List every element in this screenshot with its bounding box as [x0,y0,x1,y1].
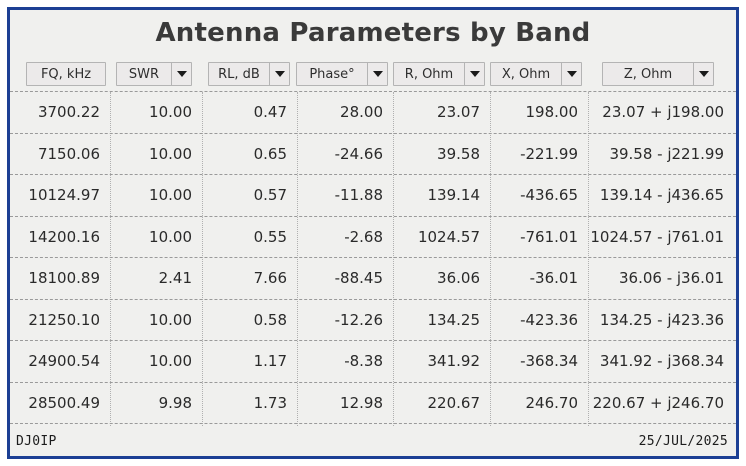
cell-x: 198.00 [490,92,588,133]
cell-r: 1024.57 [393,217,490,258]
column-header-x[interactable]: X, Ohm [490,62,582,86]
column-header-r[interactable]: R, Ohm [393,62,485,86]
chevron-down-glyph [177,71,187,77]
cell-rl: 0.55 [202,217,297,258]
chevron-down-glyph [470,71,480,77]
cell-z: 39.58 - j221.99 [588,134,736,175]
cell-swr: 10.00 [110,92,202,133]
table-row[interactable]: 14200.1610.000.55-2.681024.57-761.011024… [10,217,736,259]
table-header-row: FQ, kHzSWRRL, dBPhase°R, OhmX, OhmZ, Ohm [10,56,736,92]
cell-swr: 2.41 [110,258,202,299]
cell-phase: -12.26 [297,300,393,341]
cell-phase: 12.98 [297,383,393,424]
column-header-label: FQ, kHz [27,63,105,85]
cell-phase: -2.68 [297,217,393,258]
column-header-label: X, Ohm [491,63,561,85]
cell-rl: 0.47 [202,92,297,133]
cell-x: -436.65 [490,175,588,216]
footer-date: 25/JUL/2025 [639,434,728,449]
cell-r: 139.14 [393,175,490,216]
page-title: Antenna Parameters by Band [155,18,590,48]
cell-r: 39.58 [393,134,490,175]
cell-phase: -88.45 [297,258,393,299]
cell-x: -761.01 [490,217,588,258]
cell-z: 36.06 - j36.01 [588,258,736,299]
cell-x: -221.99 [490,134,588,175]
footer-bar: DJ0IP 25/JUL/2025 [10,426,736,456]
column-header-label: R, Ohm [394,63,464,85]
chevron-down-icon[interactable] [367,63,387,85]
cell-x: -36.01 [490,258,588,299]
cell-phase: -24.66 [297,134,393,175]
cell-fq: 28500.49 [14,383,110,424]
cell-r: 36.06 [393,258,490,299]
cell-r: 23.07 [393,92,490,133]
cell-z: 134.25 - j423.36 [588,300,736,341]
cell-z: 220.67 + j246.70 [588,383,736,424]
cell-z: 23.07 + j198.00 [588,92,736,133]
column-header-z[interactable]: Z, Ohm [602,62,714,86]
cell-swr: 10.00 [110,217,202,258]
cell-fq: 10124.97 [14,175,110,216]
chevron-down-icon[interactable] [464,63,484,85]
cell-rl: 0.58 [202,300,297,341]
cell-phase: -8.38 [297,341,393,382]
cell-swr: 10.00 [110,134,202,175]
cell-fq: 3700.22 [14,92,110,133]
column-header-label: Phase° [297,63,367,85]
chevron-down-glyph [699,71,709,77]
table-row[interactable]: 10124.9710.000.57-11.88139.14-436.65139.… [10,175,736,217]
column-header-rl[interactable]: RL, dB [208,62,290,86]
footer-callsign: DJ0IP [16,434,57,449]
cell-phase: 28.00 [297,92,393,133]
cell-swr: 9.98 [110,383,202,424]
table-row[interactable]: 7150.0610.000.65-24.6639.58-221.9939.58 … [10,134,736,176]
cell-rl: 1.17 [202,341,297,382]
cell-swr: 10.00 [110,300,202,341]
column-header-label: Z, Ohm [603,63,693,85]
chevron-down-icon[interactable] [693,63,713,85]
cell-rl: 7.66 [202,258,297,299]
cell-z: 341.92 - j368.34 [588,341,736,382]
column-header-fq[interactable]: FQ, kHz [26,62,106,86]
column-header-label: SWR [117,63,171,85]
cell-r: 341.92 [393,341,490,382]
column-header-swr[interactable]: SWR [116,62,192,86]
cell-x: -423.36 [490,300,588,341]
cell-r: 134.25 [393,300,490,341]
cell-z: 139.14 - j436.65 [588,175,736,216]
title-bar: Antenna Parameters by Band [10,10,736,56]
cell-z: 1024.57 - j761.01 [588,217,736,258]
table-row[interactable]: 24900.5410.001.17-8.38341.92-368.34341.9… [10,341,736,383]
chevron-down-glyph [275,71,285,77]
cell-fq: 18100.89 [14,258,110,299]
table-row[interactable]: 18100.892.417.66-88.4536.06-36.0136.06 -… [10,258,736,300]
cell-swr: 10.00 [110,175,202,216]
cell-x: -368.34 [490,341,588,382]
cell-fq: 14200.16 [14,217,110,258]
cell-rl: 0.65 [202,134,297,175]
chevron-down-glyph [373,71,383,77]
cell-swr: 10.00 [110,341,202,382]
cell-fq: 21250.10 [14,300,110,341]
column-header-phase[interactable]: Phase° [296,62,388,86]
chevron-down-icon[interactable] [561,63,581,85]
cell-fq: 24900.54 [14,341,110,382]
cell-fq: 7150.06 [14,134,110,175]
table-row[interactable]: 28500.499.981.7312.98220.67246.70220.67 … [10,383,736,425]
application-window: Antenna Parameters by Band FQ, kHzSWRRL,… [7,7,739,459]
chevron-down-glyph [567,71,577,77]
cell-phase: -11.88 [297,175,393,216]
chevron-down-icon[interactable] [269,63,289,85]
cell-r: 220.67 [393,383,490,424]
column-header-label: RL, dB [209,63,269,85]
table-body: 3700.2210.000.4728.0023.07198.0023.07 + … [10,92,736,426]
cell-rl: 0.57 [202,175,297,216]
cell-x: 246.70 [490,383,588,424]
chevron-down-icon[interactable] [171,63,191,85]
table-row[interactable]: 21250.1010.000.58-12.26134.25-423.36134.… [10,300,736,342]
table-row[interactable]: 3700.2210.000.4728.0023.07198.0023.07 + … [10,92,736,134]
cell-rl: 1.73 [202,383,297,424]
